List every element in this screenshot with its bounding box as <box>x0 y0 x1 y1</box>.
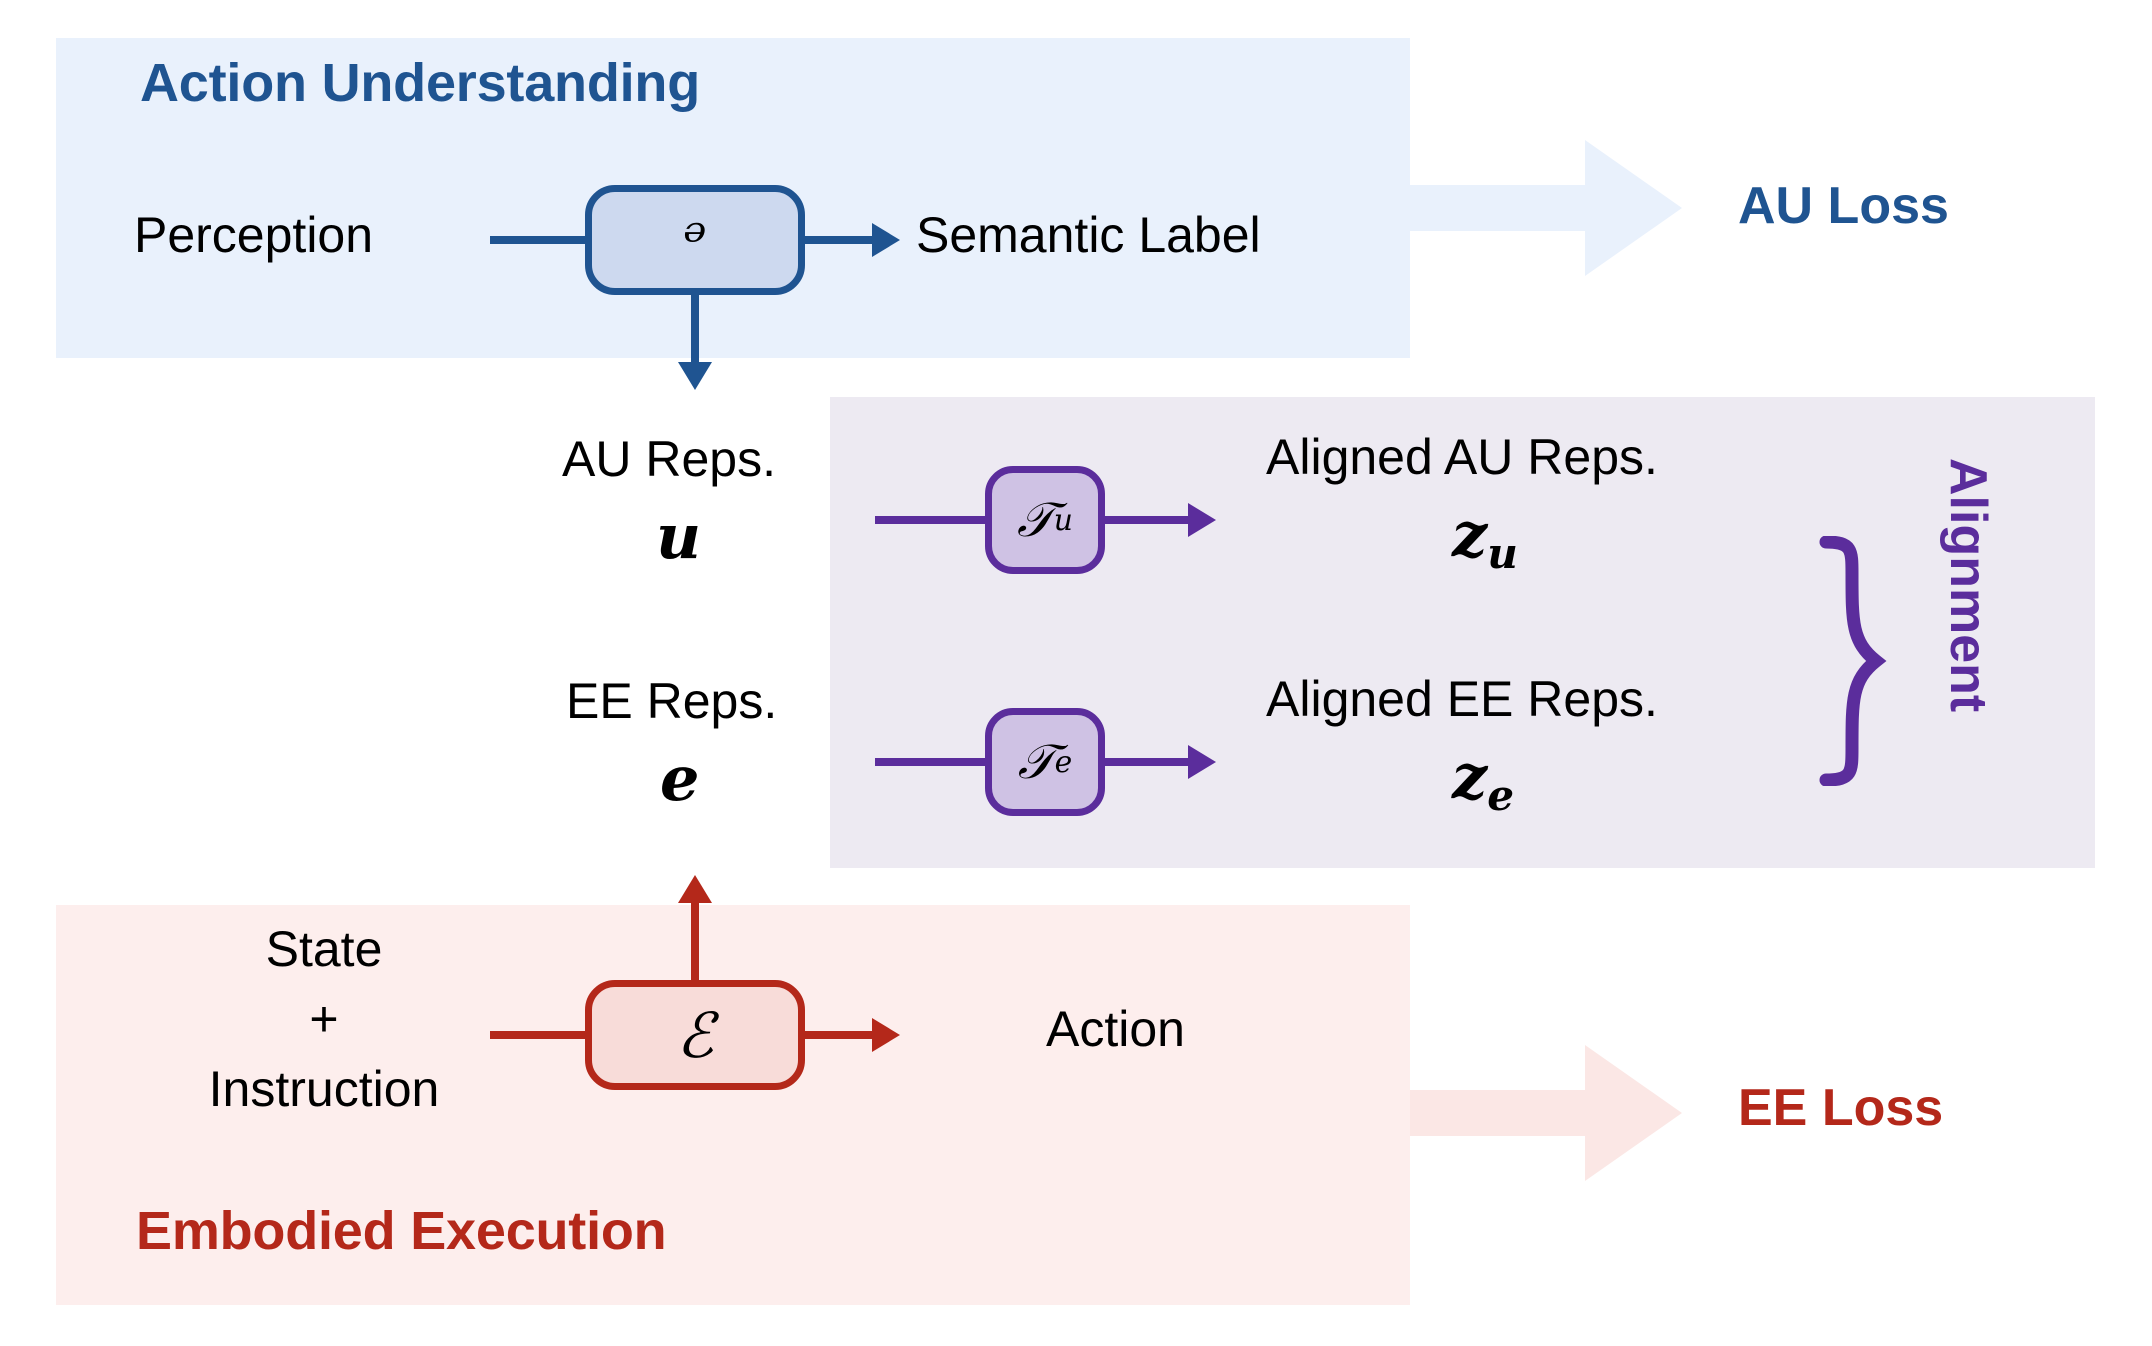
au-loss-block-arrow <box>1410 140 1682 276</box>
u-to-semantic-arrowhead-icon <box>872 223 900 257</box>
u-to-au-reps-arrowhead-icon <box>678 362 712 390</box>
perception-label: Perception <box>134 206 373 264</box>
transform-e-module-box: 𝒯e <box>985 708 1105 816</box>
transform-e-subscript: e <box>1055 745 1073 780</box>
au-loss-label: AU Loss <box>1738 176 1949 236</box>
state-label: State <box>214 920 434 978</box>
aligned-ee-reps-label: Aligned EE Reps. <box>1266 670 1658 728</box>
u-to-semantic-connector <box>802 236 874 244</box>
u-to-tu-connector <box>875 516 993 524</box>
diagram-canvas: Action Understanding Perception ᵊ Semant… <box>0 0 2152 1346</box>
alignment-brace-icon <box>1818 536 1898 786</box>
te-to-ze-connector <box>1102 758 1190 766</box>
aligned-ee-reps-symbol: ze <box>1452 740 1514 820</box>
ee-reps-label: EE Reps. <box>566 672 777 730</box>
zu-subscript: u <box>1487 528 1518 578</box>
au-reps-symbol-text: u <box>656 500 701 573</box>
transform-u-module-box: 𝒯u <box>985 466 1105 574</box>
e-to-te-connector <box>875 758 993 766</box>
ze-symbol-text: z <box>1452 740 1487 813</box>
ee-reps-symbol-text: e <box>660 742 699 815</box>
transform-u-subscript: u <box>1054 503 1073 538</box>
e-to-action-arrowhead-icon <box>872 1018 900 1052</box>
transform-u-symbol: 𝒯 <box>1017 492 1054 549</box>
input-to-e-connector <box>490 1031 590 1039</box>
embodied-execution-title: Embodied Execution <box>136 1200 666 1262</box>
au-reps-symbol: u <box>656 500 701 573</box>
action-label: Action <box>1046 1000 1185 1058</box>
e-to-action-connector <box>802 1031 874 1039</box>
e-to-ee-reps-arrowhead-icon <box>678 875 712 903</box>
transform-e-symbol: 𝒯 <box>1018 734 1055 791</box>
aligned-au-reps-label: Aligned AU Reps. <box>1266 428 1658 486</box>
ze-subscript: e <box>1487 770 1514 820</box>
semantic-label-text: Semantic Label <box>916 206 1261 264</box>
tu-to-zu-connector <box>1102 516 1190 524</box>
instruction-label: Instruction <box>134 1060 514 1118</box>
zu-symbol-text: z <box>1452 498 1487 571</box>
tu-to-zu-arrowhead-icon <box>1188 503 1216 537</box>
ee-loss-block-arrow <box>1410 1045 1682 1181</box>
e-to-ee-reps-connector <box>691 900 699 985</box>
e-module-symbol: ℰ <box>676 999 714 1072</box>
perception-to-u-connector <box>490 236 590 244</box>
plus-label: + <box>214 990 434 1048</box>
ee-reps-symbol: e <box>660 742 699 815</box>
au-reps-label: AU Reps. <box>562 430 776 488</box>
ee-loss-label: EE Loss <box>1738 1078 1943 1138</box>
alignment-label: Alignment <box>1938 458 1998 712</box>
embodied-execution-module-box: ℰ <box>585 980 805 1090</box>
action-understanding-title: Action Understanding <box>140 52 700 114</box>
te-to-ze-arrowhead-icon <box>1188 745 1216 779</box>
aligned-au-reps-symbol: zu <box>1452 498 1518 578</box>
u-module-symbol: ᵊ <box>683 204 707 277</box>
action-understanding-module-box: ᵊ <box>585 185 805 295</box>
u-to-au-reps-connector <box>691 290 699 370</box>
